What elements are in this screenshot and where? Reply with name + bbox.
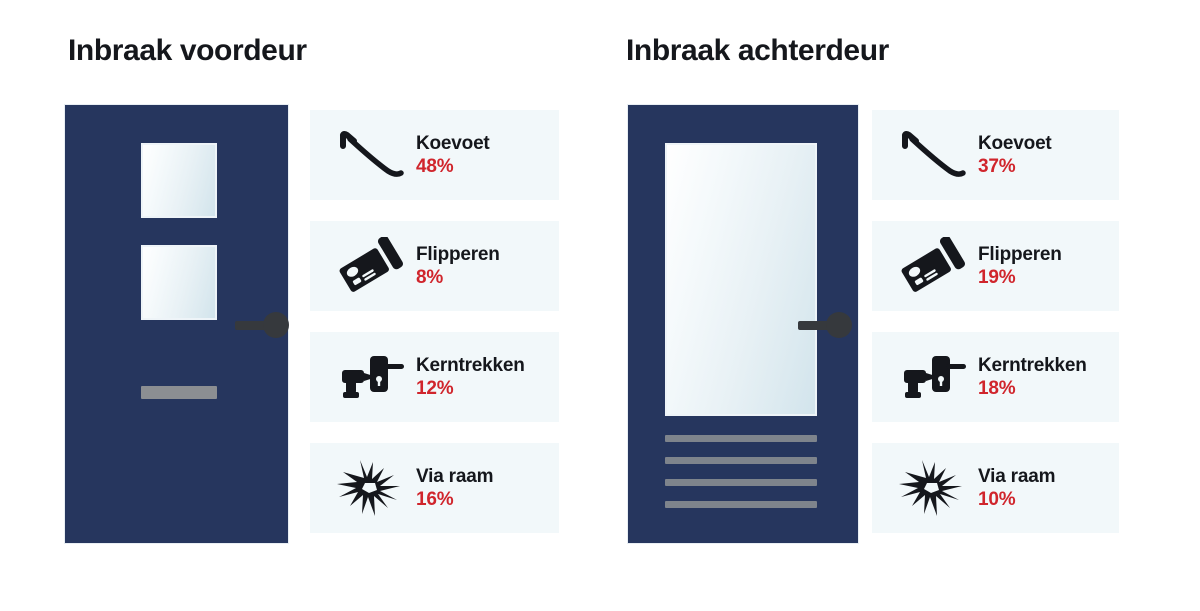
door-slat xyxy=(665,479,817,486)
stat-label: Via raam xyxy=(978,466,1055,488)
stat-value: 16% xyxy=(416,489,493,511)
stat-label: Koevoet xyxy=(978,133,1052,155)
stat-card-flipperen[interactable]: Flipperen 19% xyxy=(872,221,1119,311)
stat-value: 8% xyxy=(416,267,500,289)
stat-value: 12% xyxy=(416,378,525,400)
stat-card-koevoet[interactable]: Koevoet 37% xyxy=(872,110,1119,200)
stat-card-via-raam[interactable]: Via raam 10% xyxy=(872,443,1119,533)
stat-card-list-achterdeur: Koevoet 37% xyxy=(872,110,1119,533)
mail-slot xyxy=(141,386,217,399)
stat-label: Flipperen xyxy=(978,244,1062,266)
stat-text-via-raam: Via raam 16% xyxy=(416,466,493,511)
stat-text-kerntrekken: Kerntrekken 12% xyxy=(416,355,525,400)
stat-card-via-raam[interactable]: Via raam 16% xyxy=(310,443,559,533)
stat-card-kerntrekken[interactable]: Kerntrekken 18% xyxy=(872,332,1119,422)
credit-card-icon xyxy=(886,229,978,303)
door-handle-icon xyxy=(798,312,854,338)
broken-glass-icon xyxy=(324,451,416,525)
stat-card-kerntrekken[interactable]: Kerntrekken 12% xyxy=(310,332,559,422)
stat-value: 48% xyxy=(416,156,490,178)
back-door-illustration xyxy=(627,104,859,544)
stat-card-koevoet[interactable]: Koevoet 48% xyxy=(310,110,559,200)
stat-card-list-voordeur: Koevoet 48% xyxy=(310,110,559,533)
stat-text-flipperen: Flipperen 19% xyxy=(978,244,1062,289)
drill-lock-icon xyxy=(886,340,978,414)
page-title-achterdeur: Inbraak achterdeur xyxy=(626,34,889,68)
stat-value: 19% xyxy=(978,267,1062,289)
stat-text-flipperen: Flipperen 8% xyxy=(416,244,500,289)
stat-label: Flipperen xyxy=(416,244,500,266)
stat-value: 18% xyxy=(978,378,1087,400)
stat-value: 10% xyxy=(978,489,1055,511)
crowbar-icon xyxy=(324,118,416,192)
crowbar-icon xyxy=(886,118,978,192)
door-handle-knob xyxy=(826,312,852,338)
door-handle-icon xyxy=(235,312,291,338)
stat-text-koevoet: Koevoet 37% xyxy=(978,133,1052,178)
panel-voordeur: Inbraak voordeur Koevoet xyxy=(0,0,600,611)
stat-label: Kerntrekken xyxy=(416,355,525,377)
stat-card-flipperen[interactable]: Flipperen 8% xyxy=(310,221,559,311)
stat-text-via-raam: Via raam 10% xyxy=(978,466,1055,511)
door-slat xyxy=(665,501,817,508)
credit-card-icon xyxy=(324,229,416,303)
door-slat xyxy=(665,457,817,464)
infographic-canvas: Inbraak voordeur Koevoet xyxy=(0,0,1200,611)
stat-text-kerntrekken: Kerntrekken 18% xyxy=(978,355,1087,400)
stat-value: 37% xyxy=(978,156,1052,178)
stat-text-koevoet: Koevoet 48% xyxy=(416,133,490,178)
door-glass-panel-bottom xyxy=(141,245,217,320)
front-door-illustration xyxy=(64,104,289,544)
door-handle-knob xyxy=(263,312,289,338)
stat-label: Via raam xyxy=(416,466,493,488)
broken-glass-icon xyxy=(886,451,978,525)
panel-achterdeur: Inbraak achterdeur xyxy=(600,0,1200,611)
page-title-voordeur: Inbraak voordeur xyxy=(68,34,307,68)
stat-label: Kerntrekken xyxy=(978,355,1087,377)
door-slat xyxy=(665,435,817,442)
stat-label: Koevoet xyxy=(416,133,490,155)
door-glass-panel-top xyxy=(141,143,217,218)
drill-lock-icon xyxy=(324,340,416,414)
door-glass-panel-tall xyxy=(665,143,817,416)
